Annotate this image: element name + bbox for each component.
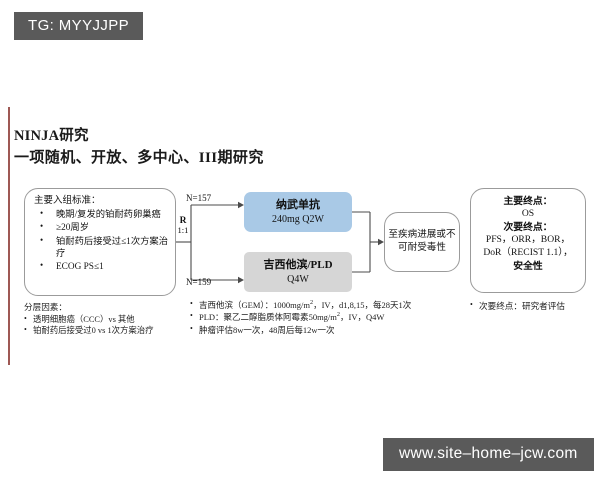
dosing-note: 吉西他滨（GEM）：1000mg/m2，IV，d1,8,15，每28天1次 PL…: [190, 299, 405, 336]
card-accent-line: [8, 107, 10, 365]
dosing-gem-suffix: ，IV，d1,8,15，每28天1次: [313, 300, 411, 310]
endpoints-box: 主要终点： OS 次要终点： PFS，ORR，BOR， DoR（RECIST 1…: [470, 188, 586, 293]
stratification-note: 分层因素： 透明细胞癌（CCC）vs 其他 铂耐药后接受过0 vs 1次方案治疗: [24, 302, 184, 337]
arm-name: 吉西他滨/PLD: [244, 258, 352, 272]
dosing-note-line: 肿瘤评估8w一次，48周后每12w一次: [190, 324, 405, 336]
dosing-note-line: 吉西他滨（GEM）：1000mg/m2，IV，d1,8,15，每28天1次: [190, 299, 405, 311]
arm-dose: Q4W: [244, 273, 352, 286]
list-item: 晚期/复发的铂耐药卵巢癌: [34, 209, 169, 221]
secondary-endpoint-line: PFS，ORR，BOR，: [475, 234, 581, 247]
dosing-pld-suffix: ，IV，Q4W: [340, 312, 384, 322]
stratification-title: 分层因素：: [24, 302, 184, 314]
secondary-endpoint-line: 安全性: [475, 260, 581, 273]
arm-dose: 240mg Q2W: [244, 213, 352, 226]
bottom-watermark-badge: www.site–home–jcw.com: [383, 438, 594, 471]
dosing-pld-mid: 50mg/m: [309, 312, 337, 322]
list-item: 透明细胞癌（CCC）vs 其他: [24, 314, 184, 326]
inclusion-criteria-list: 晚期/复发的铂耐药卵巢癌 ≥20周岁 铂耐药后接受过≤1次方案治疗 ECOG P…: [34, 209, 169, 272]
inclusion-criteria-box: 主要入组标准： 晚期/复发的铂耐药卵巢癌 ≥20周岁 铂耐药后接受过≤1次方案治…: [24, 188, 176, 296]
top-watermark-badge: TG: MYYJJPP: [14, 12, 143, 40]
list-item: ECOG PS≤1: [34, 261, 169, 273]
secondary-endpoint-line: DoR（RECIST 1.1），: [475, 247, 581, 260]
primary-endpoint-heading: 主要终点：: [475, 195, 581, 208]
dosing-pld-prefix: PLD：聚乙二醇脂质体阿霉素: [199, 312, 309, 322]
list-item: 铂耐药后接受过≤1次方案治疗: [34, 236, 169, 260]
arm-name: 纳武单抗: [244, 198, 352, 212]
list-item: 铂耐药后接受过0 vs 1次方案治疗: [24, 325, 184, 337]
dosing-gem-prefix: 吉西他滨（GEM）：1000mg/m: [199, 300, 310, 310]
until-progression-text: 至疾病进展或不可耐受毒性: [385, 229, 459, 255]
treatment-arm-nivolumab: 纳武单抗 240mg Q2W: [244, 192, 352, 232]
until-progression-box: 至疾病进展或不可耐受毒性: [384, 212, 460, 272]
page-subtitle: 一项随机、开放、多中心、III期研究: [14, 146, 264, 167]
dosing-note-line: PLD：聚乙二醇脂质体阿霉素50mg/m2，IV，Q4W: [190, 311, 405, 323]
randomization-label: R 1:1: [176, 216, 190, 236]
page-title: NINJA研究: [14, 124, 89, 145]
primary-endpoint-value: OS: [475, 208, 581, 221]
arm-n-label-chemotherapy: N=159: [186, 277, 211, 287]
randomization-ratio: 1:1: [176, 226, 190, 235]
secondary-endpoint-heading: 次要终点：: [475, 221, 581, 234]
inclusion-criteria-title: 主要入组标准：: [34, 196, 169, 207]
arm-n-label-nivolumab: N=157: [186, 193, 211, 203]
list-item: 次要终点：研究者评估: [470, 300, 595, 312]
list-item: ≥20周岁: [34, 222, 169, 234]
endpoint-assessment-note: 次要终点：研究者评估: [470, 300, 595, 312]
treatment-arm-chemotherapy: 吉西他滨/PLD Q4W: [244, 252, 352, 292]
